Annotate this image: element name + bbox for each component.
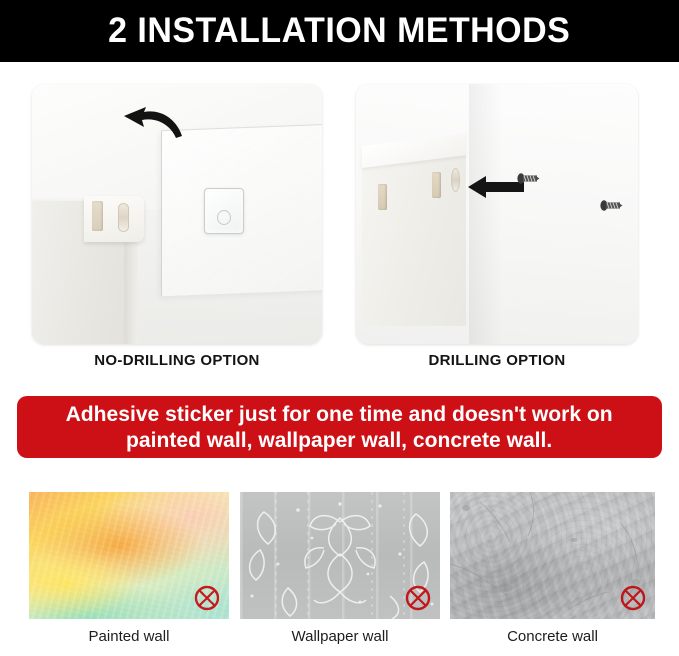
wall-type-card: Wallpaper wall bbox=[240, 492, 440, 645]
warning-text: Adhesive sticker just for one time and d… bbox=[66, 401, 613, 453]
warning-banner: Adhesive sticker just for one time and d… bbox=[17, 396, 662, 458]
keyhole-slot-icon bbox=[432, 172, 441, 198]
warning-line-2: painted wall, wallpaper wall, concrete w… bbox=[126, 428, 552, 452]
page-title: 2 INSTALLATION METHODS bbox=[108, 11, 570, 51]
screw-icon bbox=[517, 172, 541, 185]
concrete-wall-image bbox=[450, 492, 655, 619]
header-banner: 2 INSTALLATION METHODS bbox=[0, 0, 679, 62]
mounting-bracket bbox=[84, 196, 144, 242]
wall-type-label: Concrete wall bbox=[450, 628, 655, 645]
keyhole-slot-icon bbox=[118, 203, 129, 232]
method-photo-no-drilling bbox=[32, 84, 322, 344]
prohibition-x-icon bbox=[405, 585, 431, 611]
method-caption-drilling: DRILLING OPTION bbox=[356, 352, 638, 369]
unsupported-wall-types-row: Painted wall bbox=[0, 492, 679, 656]
wall-type-card: Painted wall bbox=[29, 492, 229, 645]
wall-type-label: Painted wall bbox=[29, 628, 229, 645]
painted-wall-image bbox=[29, 492, 229, 619]
installation-methods-row bbox=[0, 84, 679, 344]
keyhole-slot-icon bbox=[378, 184, 387, 210]
method-photo-drilling bbox=[356, 84, 638, 344]
wallpaper-wall-image bbox=[240, 492, 440, 619]
drilling-scene bbox=[356, 84, 638, 344]
method-caption-no-drilling: NO-DRILLING OPTION bbox=[32, 352, 322, 369]
prohibition-x-icon bbox=[194, 585, 220, 611]
concrete-cracks bbox=[450, 492, 655, 619]
keyhole-slot-icon bbox=[451, 168, 460, 192]
straight-arrow-icon bbox=[468, 174, 524, 200]
wall-type-label: Wallpaper wall bbox=[240, 628, 440, 645]
adhesive-sticker-icon bbox=[204, 188, 244, 234]
bracket-notch bbox=[92, 201, 103, 231]
cabinet-panel bbox=[362, 146, 466, 326]
warning-line-1: Adhesive sticker just for one time and d… bbox=[66, 402, 613, 426]
wall-corner-shadow bbox=[469, 84, 503, 344]
curved-arrow-icon bbox=[120, 106, 184, 140]
no-drilling-scene bbox=[32, 84, 322, 344]
screw-icon bbox=[600, 199, 624, 212]
wall-type-card: Concrete wall bbox=[450, 492, 655, 645]
prohibition-x-icon bbox=[620, 585, 646, 611]
